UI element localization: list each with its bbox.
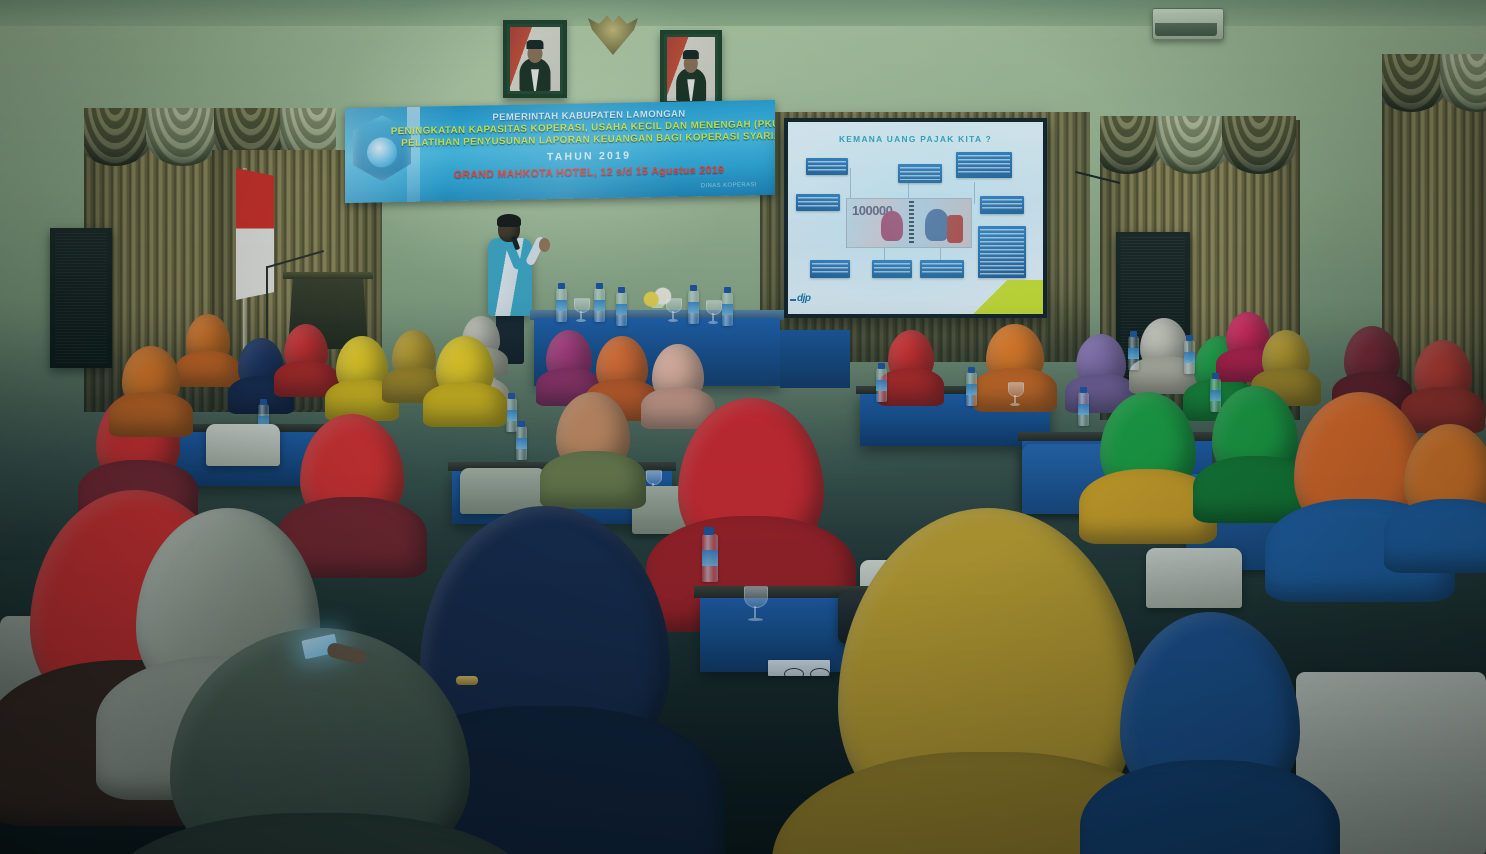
audience-member <box>436 336 494 398</box>
audience-member <box>986 324 1044 384</box>
water-bottle <box>516 426 527 460</box>
gold-bracelet <box>456 676 478 685</box>
vice-president-portrait <box>660 30 722 108</box>
audience-member <box>1344 326 1400 388</box>
slide-callout-mid-right <box>980 196 1024 214</box>
audience-member <box>186 314 230 364</box>
audience-member <box>1404 424 1486 526</box>
president-portrait <box>503 20 567 98</box>
seminar-photo: PEMERINTAH KABUPATEN LAMONGAN PENINGKATA… <box>0 0 1486 854</box>
slide-callout-bottom-right <box>920 260 964 278</box>
lectern-top <box>283 272 373 279</box>
event-banner: PEMERINTAH KABUPATEN LAMONGAN PENINGKATA… <box>345 100 775 203</box>
presenter-raised-hand <box>539 238 550 252</box>
chair <box>1146 548 1242 608</box>
banknote-image: 100000 <box>846 198 972 248</box>
banner-sheen <box>345 100 775 203</box>
slide-callout-bottom-center <box>872 260 912 278</box>
curtain-valance-right-inner <box>1100 116 1300 178</box>
slide-title: KEMANA UANG PAJAK KITA ? <box>788 134 1043 144</box>
water-bottle <box>876 368 887 402</box>
audience-member <box>888 330 934 382</box>
slide-callout-lower-right <box>978 226 1026 278</box>
drinking-glass <box>1008 382 1022 406</box>
water-bottle <box>1184 340 1195 374</box>
audience-member <box>1076 334 1126 388</box>
indonesian-flag <box>236 168 274 300</box>
chair <box>206 424 280 466</box>
water-bottle <box>1128 336 1139 370</box>
slide-callout-mid-left <box>796 194 840 211</box>
audience-member <box>1100 392 1196 496</box>
projection-screen: KEMANA UANG PAJAK KITA ? 100000 <box>784 118 1047 318</box>
audience-member <box>284 324 328 374</box>
audience-member <box>556 392 630 472</box>
water-bottle <box>702 534 718 582</box>
audience-member <box>1262 330 1310 382</box>
drinking-glass <box>744 586 766 624</box>
air-conditioner-vent <box>1155 23 1217 36</box>
ceiling-edge <box>0 0 1486 26</box>
audience-member-foreground <box>170 628 470 854</box>
curtain-valance-far-right <box>1382 54 1486 116</box>
audience-member-foreground <box>838 508 1138 838</box>
slide-callout-top-center <box>898 164 942 183</box>
slide-surface: KEMANA UANG PAJAK KITA ? 100000 <box>788 122 1043 314</box>
audience-member <box>678 398 824 558</box>
audience-member <box>652 344 704 402</box>
audience-member-foreground <box>1120 612 1300 812</box>
eyeglasses <box>784 668 830 679</box>
audience-member <box>336 336 388 394</box>
slide-callout-top-right <box>956 152 1012 178</box>
audience-member <box>1212 386 1298 480</box>
slide-callout-bottom-left <box>810 260 850 278</box>
water-bottle <box>966 372 977 406</box>
presenter-hair <box>497 214 521 227</box>
audience-member <box>546 330 592 382</box>
audience-member <box>596 336 648 394</box>
slide-callout-top-left <box>806 158 848 175</box>
audience-member <box>122 346 180 408</box>
audience-member <box>1140 318 1188 370</box>
audience-member <box>392 330 436 380</box>
water-bottle <box>1078 392 1089 426</box>
